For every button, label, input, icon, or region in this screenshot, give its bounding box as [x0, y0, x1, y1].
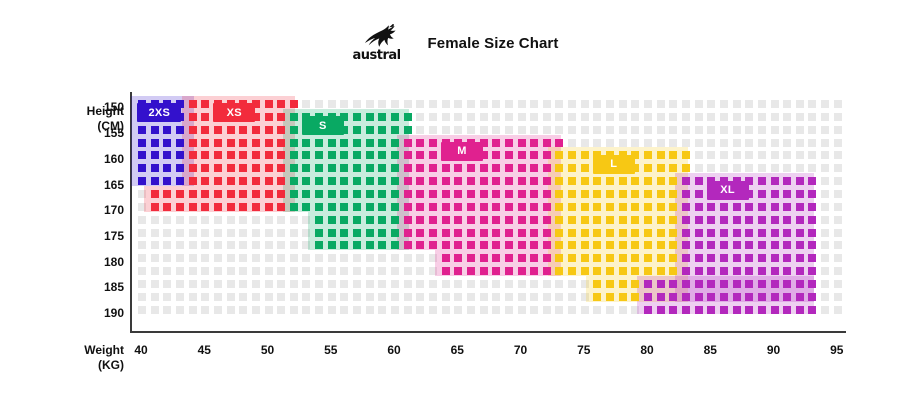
size-dot-xs [277, 100, 285, 108]
grid-dot [416, 306, 424, 314]
size-dot-m [480, 241, 488, 249]
grid-dot [454, 113, 462, 121]
size-dot-xl [695, 190, 703, 198]
grid-dot [214, 254, 222, 262]
grid-dot [366, 100, 374, 108]
grid-dot [543, 100, 551, 108]
size-dot-xs [239, 126, 247, 134]
size-dot-s [366, 164, 374, 172]
grid-dot [771, 164, 779, 172]
grid-dot [378, 293, 386, 301]
size-dot-s [391, 164, 399, 172]
grid-dot [657, 100, 665, 108]
size-dot-xl [695, 267, 703, 275]
size-dot-xl [745, 306, 753, 314]
size-dot-xl [745, 216, 753, 224]
size-dot-xs [252, 164, 260, 172]
size-dot-xl [783, 241, 791, 249]
size-dot-s [366, 190, 374, 198]
size-dot-xl [796, 177, 804, 185]
grid-dot [277, 254, 285, 262]
size-dot-xs [214, 151, 222, 159]
size-dot-xl [695, 254, 703, 262]
grid-dot [328, 280, 336, 288]
grid-dot [631, 139, 639, 147]
size-dot-xl [771, 241, 779, 249]
grid-dot [454, 280, 462, 288]
grid-dot [669, 100, 677, 108]
size-dot-m [492, 139, 500, 147]
grid-dot [695, 139, 703, 147]
size-dot-l [657, 216, 665, 224]
size-dot-l [606, 190, 614, 198]
grid-dot [492, 100, 500, 108]
grid-dot [328, 254, 336, 262]
size-dot-xs [163, 190, 171, 198]
size-dot-l [644, 267, 652, 275]
grid-dot [593, 139, 601, 147]
size-dot-m [454, 241, 462, 249]
size-dot-m [454, 203, 462, 211]
grid-dot [631, 100, 639, 108]
grid-dot [834, 280, 842, 288]
size-dot-xl [783, 293, 791, 301]
size-dot-m [480, 267, 488, 275]
grid-dot [151, 306, 159, 314]
size-dot-xl [771, 267, 779, 275]
size-dot-m [480, 177, 488, 185]
size-dot-xl [669, 293, 677, 301]
size-dot-m [416, 241, 424, 249]
size-dot-xs [265, 126, 273, 134]
grid-dot [416, 126, 424, 134]
size-dot-l [657, 177, 665, 185]
grid-dot [201, 229, 209, 237]
grid-dot [201, 306, 209, 314]
grid-dot [378, 267, 386, 275]
size-dot-s [378, 164, 386, 172]
size-dot-l [669, 177, 677, 185]
size-dot-s [378, 113, 386, 121]
grid-dot [163, 280, 171, 288]
grid-dot [568, 306, 576, 314]
size-dot-2xs [151, 126, 159, 134]
size-dot-m [442, 203, 450, 211]
size-dot-xl [771, 280, 779, 288]
size-dot-m [518, 190, 526, 198]
size-dot-m [454, 164, 462, 172]
size-dot-xl [808, 254, 816, 262]
size-dot-l [631, 203, 639, 211]
size-dot-xl [733, 293, 741, 301]
size-dot-xs [189, 113, 197, 121]
grid-dot [720, 113, 728, 121]
size-dot-xs [214, 126, 222, 134]
size-dot-l [644, 203, 652, 211]
size-dot-s [328, 229, 336, 237]
grid-dot [366, 254, 374, 262]
size-dot-m [454, 177, 462, 185]
grid-dot [593, 100, 601, 108]
size-dot-xs [290, 100, 298, 108]
size-dot-s [366, 113, 374, 121]
grid-dot [758, 151, 766, 159]
size-dot-l [555, 216, 563, 224]
grid-dot [442, 293, 450, 301]
size-dot-s [340, 164, 348, 172]
size-dot-s [366, 216, 374, 224]
grid-dot [302, 254, 310, 262]
size-dot-xl [720, 216, 728, 224]
size-dot-xl [720, 280, 728, 288]
size-dot-l [606, 229, 614, 237]
grid-dot [265, 241, 273, 249]
x-tick-label: 55 [311, 343, 351, 357]
size-dot-xl [720, 254, 728, 262]
grid-dot [252, 216, 260, 224]
size-dot-xs [252, 203, 260, 211]
grid-dot [416, 280, 424, 288]
size-dot-xl [745, 293, 753, 301]
size-dot-s [391, 139, 399, 147]
size-dot-xl [808, 203, 816, 211]
grid-dot [265, 280, 273, 288]
size-dot-s [378, 139, 386, 147]
size-dot-xs [189, 139, 197, 147]
size-dot-l [593, 267, 601, 275]
x-axis-title-line1: Weight [44, 343, 124, 358]
size-dot-m [505, 241, 513, 249]
grid-dot [834, 293, 842, 301]
size-dot-l [555, 164, 563, 172]
y-tick-label: 180 [90, 255, 124, 269]
grid-dot [695, 164, 703, 172]
size-dot-xl [796, 306, 804, 314]
grid-dot [821, 216, 829, 224]
size-dot-m [492, 151, 500, 159]
size-dot-l [619, 267, 627, 275]
size-dot-s [315, 241, 323, 249]
grid-dot [366, 306, 374, 314]
size-dot-xl [796, 229, 804, 237]
size-dot-s [340, 241, 348, 249]
size-dot-xl [745, 267, 753, 275]
grid-dot [404, 267, 412, 275]
grid-dot [695, 151, 703, 159]
grid-dot [467, 306, 475, 314]
size-dot-m [530, 216, 538, 224]
size-dot-m [442, 241, 450, 249]
grid-dot [151, 280, 159, 288]
x-tick-label: 70 [501, 343, 541, 357]
grid-dot [176, 241, 184, 249]
grid-dot [252, 280, 260, 288]
size-dot-xs [201, 100, 209, 108]
grid-dot [353, 280, 361, 288]
size-dot-xs [265, 139, 273, 147]
grid-dot [821, 126, 829, 134]
grid-dot [834, 113, 842, 121]
size-dot-m [518, 229, 526, 237]
size-dot-l [581, 229, 589, 237]
size-dot-s [404, 113, 412, 121]
size-dot-xl [644, 280, 652, 288]
grid-dot [138, 241, 146, 249]
size-badge-2xs[interactable]: 2XS [137, 103, 181, 122]
grid-dot [442, 100, 450, 108]
grid-dot [227, 254, 235, 262]
size-dot-l [682, 164, 690, 172]
size-dot-l [657, 254, 665, 262]
size-dot-l [657, 229, 665, 237]
grid-dot [467, 126, 475, 134]
grid-dot [555, 306, 563, 314]
size-dot-s [302, 203, 310, 211]
grid-dot [328, 100, 336, 108]
grid-dot [581, 100, 589, 108]
size-dot-l [606, 203, 614, 211]
size-badge-l[interactable]: L [593, 155, 635, 174]
size-dot-m [518, 254, 526, 262]
size-dot-xs [239, 164, 247, 172]
size-dot-l [619, 216, 627, 224]
size-dot-s [290, 177, 298, 185]
size-dot-xl [783, 190, 791, 198]
size-dot-m [492, 190, 500, 198]
size-dot-l [606, 177, 614, 185]
grid-dot [555, 293, 563, 301]
size-dot-s [353, 177, 361, 185]
size-dot-xs [201, 126, 209, 134]
grid-dot [821, 280, 829, 288]
brand-wordmark: austral [352, 48, 400, 63]
grid-dot [745, 151, 753, 159]
size-dot-xl [783, 280, 791, 288]
size-dot-l [606, 254, 614, 262]
size-dot-m [416, 190, 424, 198]
size-dot-xl [657, 280, 665, 288]
size-badge-m[interactable]: M [441, 142, 483, 161]
grid-dot [265, 229, 273, 237]
size-dot-l [644, 177, 652, 185]
grid-dot [454, 100, 462, 108]
size-dot-l [568, 254, 576, 262]
size-dot-s [353, 241, 361, 249]
grid-dot [758, 139, 766, 147]
grid-dot [189, 293, 197, 301]
size-dot-m [505, 139, 513, 147]
size-dot-xl [796, 241, 804, 249]
size-dot-s [366, 241, 374, 249]
size-dot-xl [758, 190, 766, 198]
size-dot-xl [808, 306, 816, 314]
grid-dot [340, 267, 348, 275]
size-dot-s [290, 126, 298, 134]
grid-dot [290, 293, 298, 301]
grid-dot [834, 241, 842, 249]
size-dot-xs [227, 177, 235, 185]
x-tick-label: 95 [817, 343, 857, 357]
grid-dot [720, 100, 728, 108]
size-dot-xl [758, 216, 766, 224]
size-dot-m [416, 203, 424, 211]
size-dot-xl [745, 229, 753, 237]
grid-dot [821, 139, 829, 147]
size-dot-l [619, 229, 627, 237]
size-dot-s [302, 164, 310, 172]
size-dot-l [619, 280, 627, 288]
size-dot-xl [707, 216, 715, 224]
size-dot-l [619, 203, 627, 211]
size-dot-xl [695, 306, 703, 314]
size-dot-xl [695, 216, 703, 224]
y-tick-label: 170 [90, 203, 124, 217]
size-dot-m [480, 203, 488, 211]
size-dot-xl [720, 203, 728, 211]
grid-dot [290, 216, 298, 224]
grid-dot [783, 139, 791, 147]
size-dot-m [518, 241, 526, 249]
size-dot-m [454, 190, 462, 198]
size-dot-xs [189, 177, 197, 185]
grid-dot [239, 306, 247, 314]
size-dot-xs [277, 126, 285, 134]
size-dot-m [480, 216, 488, 224]
grid-dot [201, 254, 209, 262]
size-dot-l [581, 164, 589, 172]
size-dot-s [378, 126, 386, 134]
size-dot-s [340, 139, 348, 147]
size-dot-l [619, 293, 627, 301]
size-dot-xs [265, 100, 273, 108]
size-dot-m [404, 190, 412, 198]
grid-dot [227, 241, 235, 249]
grid-dot [252, 306, 260, 314]
grid-dot [214, 241, 222, 249]
size-dot-xs [201, 190, 209, 198]
y-tick-label: 165 [90, 178, 124, 192]
grid-dot [176, 216, 184, 224]
grid-dot [834, 306, 842, 314]
grid-dot [518, 100, 526, 108]
size-dot-xl [758, 254, 766, 262]
size-dot-m [518, 139, 526, 147]
grid-dot [429, 280, 437, 288]
size-dot-l [644, 216, 652, 224]
size-dot-2xs [138, 164, 146, 172]
size-dot-s [366, 151, 374, 159]
grid-dot [783, 164, 791, 172]
grid-dot [429, 126, 437, 134]
size-dot-xl [733, 229, 741, 237]
size-dot-xl [682, 306, 690, 314]
size-dot-s [328, 151, 336, 159]
grid-dot [227, 306, 235, 314]
size-dot-l [606, 267, 614, 275]
size-dot-xl [758, 203, 766, 211]
size-dot-m [442, 177, 450, 185]
size-dot-m [404, 203, 412, 211]
size-dot-l [593, 254, 601, 262]
size-badge-s[interactable]: S [302, 116, 344, 135]
grid-dot [163, 229, 171, 237]
grid-dot [619, 100, 627, 108]
grid-dot [669, 113, 677, 121]
size-dot-s [340, 216, 348, 224]
grid-dot [302, 280, 310, 288]
size-dot-xs [189, 151, 197, 159]
x-tick-label: 40 [121, 343, 161, 357]
size-dot-l [657, 151, 665, 159]
grid-dot [189, 241, 197, 249]
grid-dot [277, 267, 285, 275]
grid-dot [353, 293, 361, 301]
size-dot-xl [808, 190, 816, 198]
grid-dot [214, 306, 222, 314]
grid-dot [593, 126, 601, 134]
grid-dot [138, 306, 146, 314]
size-dot-l [568, 164, 576, 172]
grid-dot [821, 113, 829, 121]
grid-dot [201, 293, 209, 301]
size-badge-xs[interactable]: XS [213, 103, 255, 122]
size-dot-s [328, 164, 336, 172]
size-dot-l [581, 177, 589, 185]
size-dot-l [568, 229, 576, 237]
grid-dot [568, 126, 576, 134]
size-dot-xl [707, 267, 715, 275]
grid-dot [619, 113, 627, 121]
brand-logo: austral [342, 24, 412, 63]
size-dot-xs [252, 151, 260, 159]
grid-dot [467, 100, 475, 108]
size-dot-xl [720, 293, 728, 301]
grid-dot [252, 293, 260, 301]
size-dot-xl [758, 306, 766, 314]
size-badge-xl[interactable]: XL [707, 181, 749, 200]
size-dot-s [391, 241, 399, 249]
grid-dot [821, 293, 829, 301]
grid-dot [201, 216, 209, 224]
size-dot-s [378, 151, 386, 159]
size-dot-l [568, 190, 576, 198]
size-dot-xl [720, 229, 728, 237]
size-dot-l [631, 280, 639, 288]
grid-dot [391, 280, 399, 288]
size-dot-l [581, 190, 589, 198]
size-dot-s [391, 113, 399, 121]
grid-dot [720, 151, 728, 159]
grid-dot [568, 280, 576, 288]
size-dot-l [631, 254, 639, 262]
grid-dot [151, 241, 159, 249]
size-dot-xl [682, 177, 690, 185]
size-dot-xl [720, 306, 728, 314]
grid-dot [745, 164, 753, 172]
grid-dot [378, 100, 386, 108]
size-dot-m [404, 177, 412, 185]
size-dot-xl [695, 241, 703, 249]
size-dot-m [543, 190, 551, 198]
grid-dot [391, 254, 399, 262]
grid-dot [189, 216, 197, 224]
size-dot-l [555, 229, 563, 237]
size-dot-xl [783, 216, 791, 224]
grid-dot [631, 126, 639, 134]
size-dot-l [669, 164, 677, 172]
grid-dot [555, 100, 563, 108]
size-dot-l [669, 267, 677, 275]
